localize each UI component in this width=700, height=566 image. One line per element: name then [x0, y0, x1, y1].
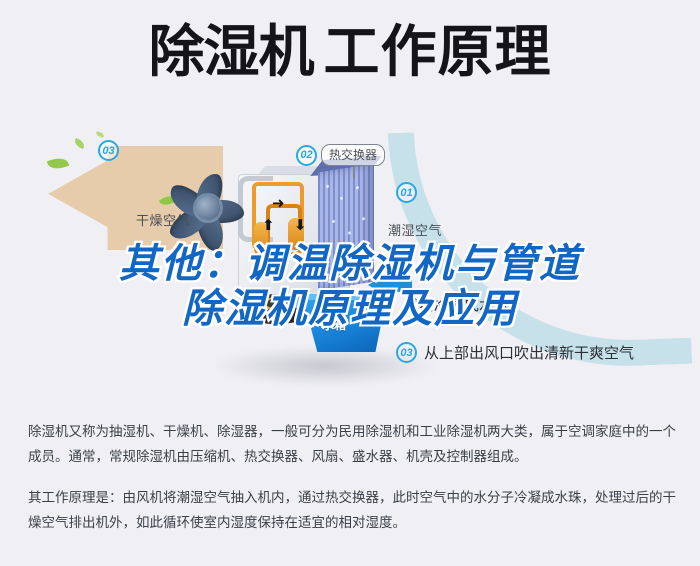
callout-caption-03: 干燥空气 — [136, 210, 190, 229]
article-body: 除湿机又称为抽湿机、干燥机、除湿器，一般可分为民用除湿机和工业除湿机两大类，属于… — [28, 420, 676, 552]
flow-arrow-down-icon: ⬇ — [294, 218, 307, 233]
callout-01-humid-air: 01 潮湿空气 — [396, 182, 417, 203]
callout-badge-03: 03 — [98, 140, 119, 161]
fan-icon — [164, 166, 256, 252]
page-title-part-b: 工作原理 — [324, 20, 552, 83]
body-paragraph-2: 其工作原理是：由风机将潮湿空气抽入机内，通过热交换器，此时空气中的水分子冷凝成水… — [28, 486, 676, 536]
overlay-headline-line1: 其他：调温除湿机与管道 — [0, 242, 700, 287]
flow-arrow-right-icon: ➜ — [272, 196, 285, 211]
callout-badge-02: 02 — [296, 145, 317, 166]
callout-caption-01: 潮湿空气 — [388, 220, 442, 239]
callout-02-heat-exchanger: 02 热交换器 — [296, 144, 385, 166]
info-line-03: 03 从上部出风口吹出清新干爽空气 — [396, 342, 634, 363]
page-root: 除湿机工作原理 ➜ ⬆ ⬇ — [0, 0, 700, 566]
page-title-part-a: 除湿机 — [149, 20, 314, 83]
flow-arrow-up-icon: ⬆ — [262, 218, 275, 233]
leaf-icon — [96, 131, 105, 137]
callout-03-dry-air: 03 干燥空气 — [98, 140, 119, 161]
page-title: 除湿机工作原理 — [0, 24, 700, 80]
info-text-03: 从上部出风口吹出清新干爽空气 — [424, 342, 634, 363]
callout-badge-01: 01 — [396, 182, 417, 203]
info-badge-03: 03 — [396, 342, 417, 363]
leaf-icon — [73, 138, 86, 149]
body-paragraph-1: 除湿机又称为抽湿机、干燥机、除湿器，一般可分为民用除湿机和工业除湿机两大类，属于… — [28, 420, 676, 470]
overlay-headline: 其他：调温除湿机与管道 除湿机原理及应用 — [0, 242, 700, 332]
leaf-icon — [47, 155, 69, 172]
callout-caption-02: 热交换器 — [321, 144, 385, 166]
overlay-headline-line2: 除湿机原理及应用 — [0, 287, 700, 332]
